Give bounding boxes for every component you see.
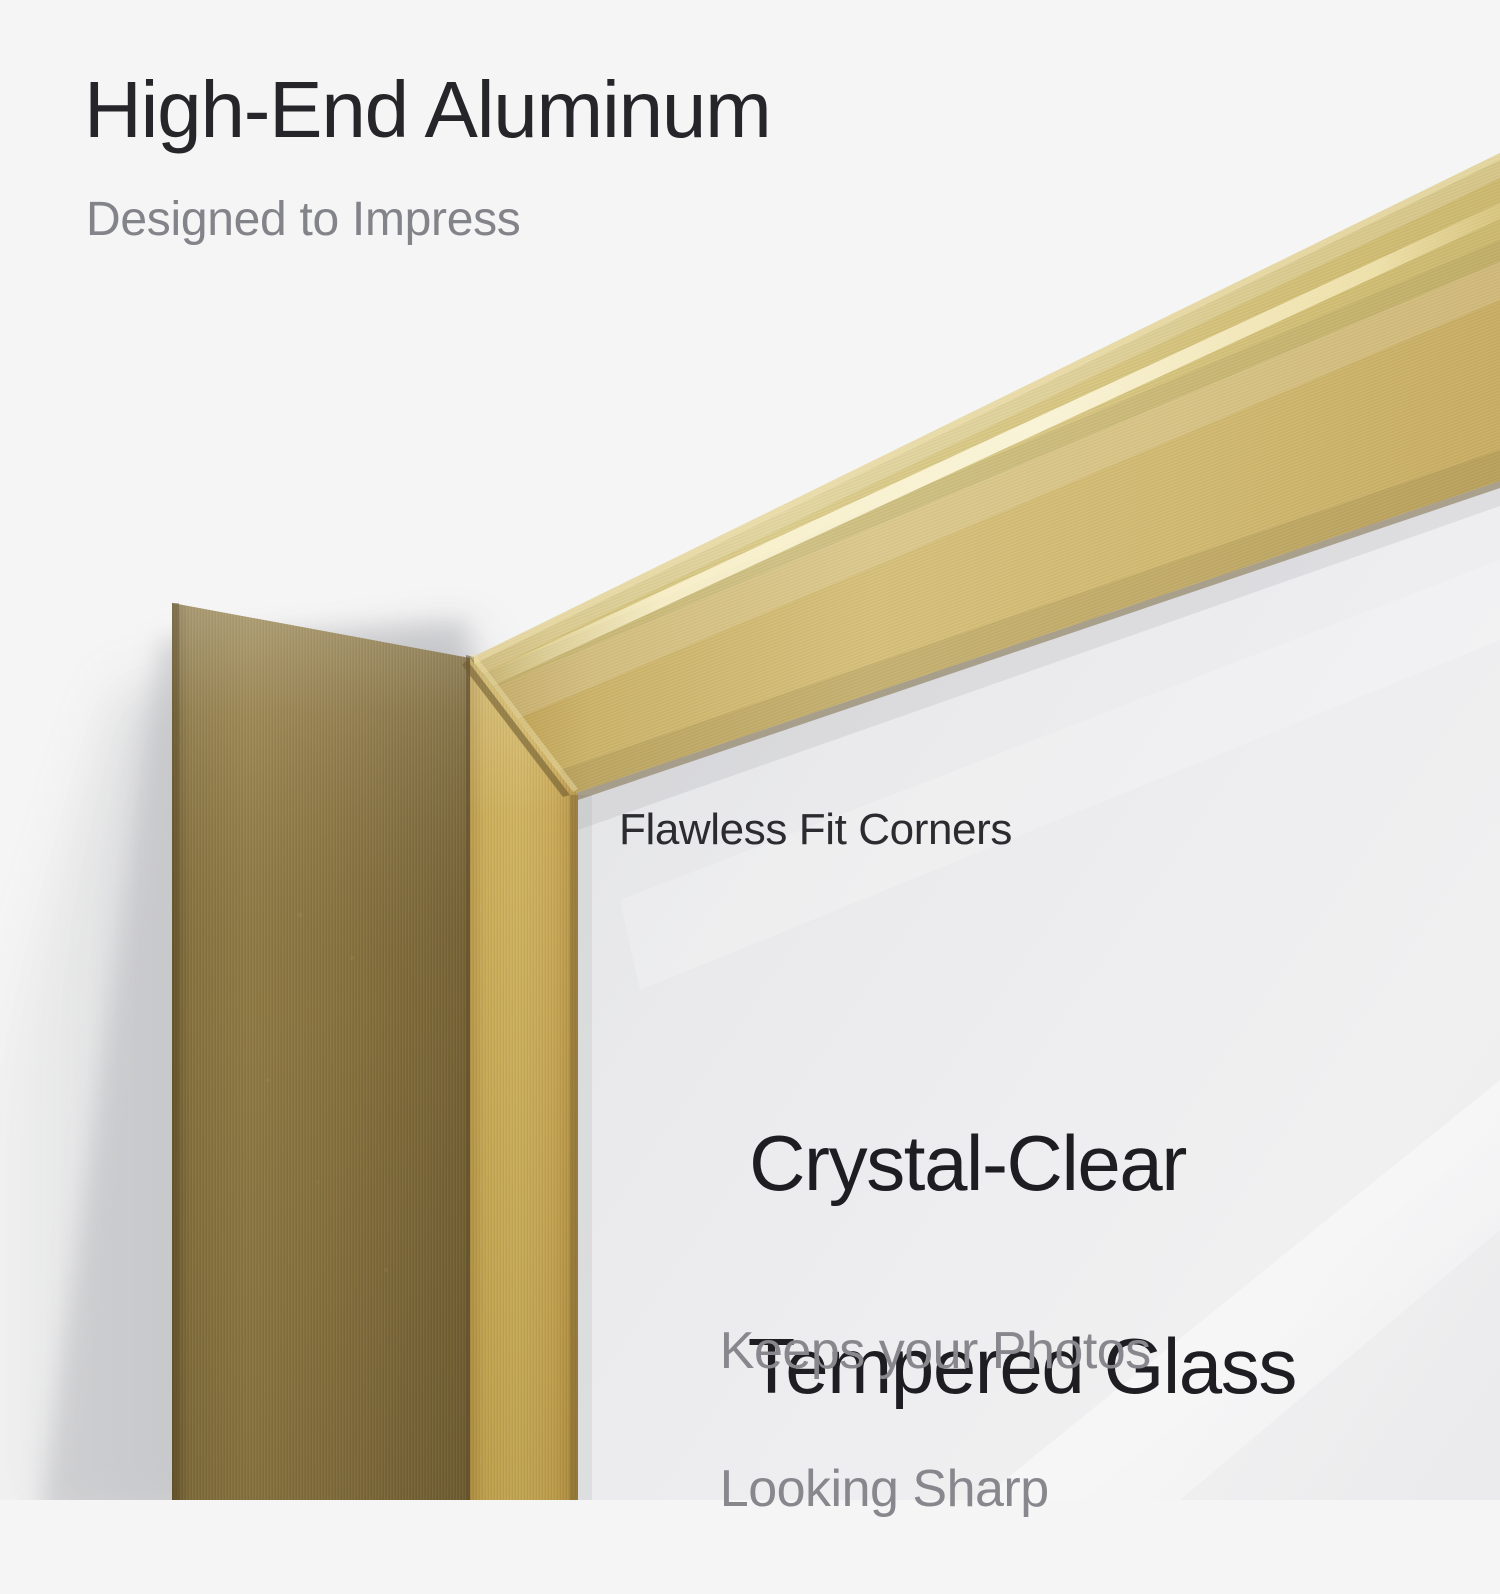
feature-glass-subtext-line2: Looking Sharp [720,1460,1049,1518]
feature-glass-heading-line1: Crystal-Clear [749,1119,1186,1207]
product-marketing-canvas: High-End Aluminum Designed to Impress Fl… [0,0,1500,1500]
page-subtitle: Designed to Impress [86,196,521,244]
callout-flawless-fit-corners: Flawless Fit Corners [619,808,1012,852]
page-title: High-End Aluminum [84,70,771,150]
feature-glass-subtext-line1: Keeps your Photos [720,1322,1151,1380]
feature-glass-subtext: Keeps your Photos Looking Sharp [664,1248,1151,1594]
